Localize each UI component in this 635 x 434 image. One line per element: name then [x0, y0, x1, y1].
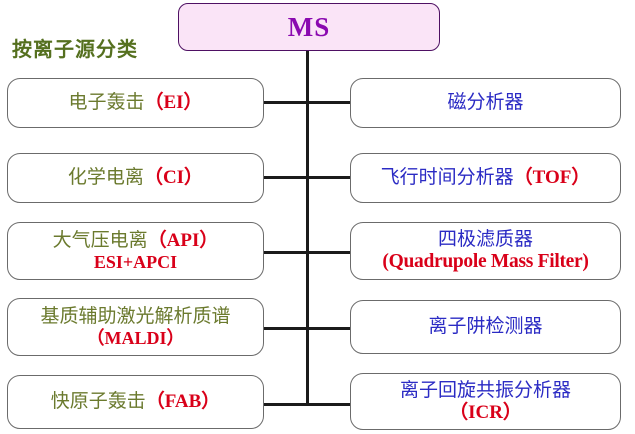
diagram-canvas: 按离子源分类 MS 电子轰击（EI） 化学电离（CI） 大气压电离（API） E…: [0, 0, 635, 434]
node-ei-cn: 电子轰击: [68, 92, 144, 113]
connector-right-row-5: [306, 403, 352, 406]
node-magnetic-cn: 磁分析器: [447, 92, 523, 113]
node-fab-abbr: （FAB）: [146, 391, 221, 412]
node-quadrupole-cn: 四极滤质器: [438, 229, 533, 250]
node-analyzer-quadrupole[interactable]: 四极滤质器 (Quadrupole Mass Filter): [350, 222, 621, 280]
node-ion-source-ci[interactable]: 化学电离（CI）: [7, 153, 264, 203]
node-ion-source-fab[interactable]: 快原子轰击（FAB）: [7, 375, 264, 429]
node-api-cn: 大气压电离: [53, 230, 148, 251]
node-ci-cn: 化学电离: [68, 167, 144, 188]
connector-left-row-2: [263, 176, 309, 179]
node-ion-trap-line1: 离子阱检测器: [428, 316, 542, 337]
node-icr-line2: （ICR）: [449, 402, 522, 423]
node-ion-trap-cn: 离子阱检测器: [428, 316, 542, 337]
connector-right-row-2: [306, 176, 352, 179]
node-ei-abbr: （EI）: [144, 92, 202, 113]
connector-right-row-4: [306, 327, 352, 330]
node-maldi-line1: 基质辅助激光解析质谱: [40, 306, 230, 327]
node-ei-line1: 电子轰击（EI）: [68, 92, 202, 113]
diagram-title: 按离子源分类: [12, 33, 138, 62]
node-fab-line1: 快原子轰击（FAB）: [51, 391, 221, 412]
node-ms-label: MS: [288, 12, 331, 42]
node-ms-root[interactable]: MS: [178, 3, 440, 51]
node-icr-line1: 离子回旋共振分析器: [400, 380, 571, 401]
node-quadrupole-line2: (Quadrupole Mass Filter): [382, 251, 588, 273]
node-icr-cn: 离子回旋共振分析器: [400, 380, 571, 401]
node-ci-line1: 化学电离（CI）: [68, 167, 203, 188]
node-api-abbr: （API）: [148, 230, 219, 251]
connector-left-row-1: [263, 101, 309, 104]
connector-left-row-3: [263, 251, 309, 254]
node-api-line1: 大气压电离（API）: [53, 230, 219, 251]
node-ion-source-ei[interactable]: 电子轰击（EI）: [7, 78, 264, 128]
node-analyzer-tof[interactable]: 飞行时间分析器（TOF）: [350, 153, 621, 203]
node-tof-line1: 飞行时间分析器（TOF）: [381, 167, 591, 188]
node-ion-source-maldi[interactable]: 基质辅助激光解析质谱 （MALDI）: [7, 298, 264, 356]
connector-left-row-4: [263, 327, 309, 330]
node-ci-abbr: （CI）: [144, 167, 203, 188]
node-analyzer-icr[interactable]: 离子回旋共振分析器 （ICR）: [350, 373, 621, 430]
connector-right-row-1: [306, 101, 352, 104]
node-api-line2: ESI+APCI: [94, 252, 177, 272]
node-ion-source-api[interactable]: 大气压电离（API） ESI+APCI: [7, 222, 264, 280]
node-maldi-cn: 基质辅助激光解析质谱: [40, 306, 230, 327]
node-quadrupole-line1: 四极滤质器: [438, 229, 533, 250]
node-fab-cn: 快原子轰击: [51, 391, 146, 412]
node-magnetic-line1: 磁分析器: [447, 92, 523, 113]
node-maldi-line2: （MALDI）: [87, 328, 185, 348]
connector-left-row-5: [263, 403, 309, 406]
node-analyzer-magnetic[interactable]: 磁分析器: [350, 78, 621, 128]
node-tof-abbr: （TOF）: [514, 167, 591, 188]
node-tof-cn: 飞行时间分析器: [381, 167, 514, 188]
node-analyzer-ion-trap[interactable]: 离子阱检测器: [350, 300, 621, 354]
connector-right-row-3: [306, 251, 352, 254]
